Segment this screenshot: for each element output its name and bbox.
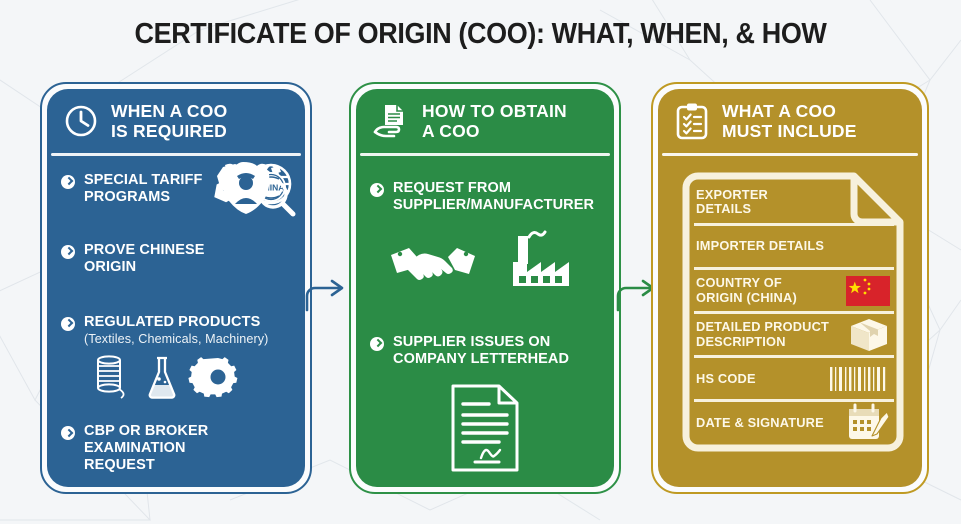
list-item-request-from-supplier[interactable]: REQUEST FROM SUPPLIER/MANUFACTURER <box>370 180 600 214</box>
list-item-label-2: EXAMINATION <box>84 440 186 456</box>
doc-row-date-signature[interactable]: DATE & SIGNATURE <box>694 402 894 443</box>
panel-how-header: HOW TO OBTAIN A COO <box>356 89 614 153</box>
panel-how-title: HOW TO OBTAIN A COO <box>422 101 567 142</box>
doc-row-importer-details[interactable]: IMPORTER DETAILS <box>694 226 894 270</box>
list-item-regulated-products[interactable]: REGULATED PRODUCTS (Textiles, Chemicals,… <box>61 314 291 347</box>
list-item-label-3: REQUEST <box>84 457 155 473</box>
china-flag-icon <box>846 276 890 306</box>
list-item-cbp-broker-exam[interactable]: CBP OR BROKER EXAMINATION REQUEST <box>61 423 291 474</box>
panel-when-header: WHEN A COO IS REQUIRED <box>47 89 305 153</box>
cbp-exam-icons <box>213 156 299 218</box>
doc-row-hs-code[interactable]: HS CODE <box>694 358 894 402</box>
list-item-label: CBP OR BROKER <box>84 423 208 439</box>
panel-when-title-line2: IS REQUIRED <box>111 121 227 141</box>
list-item-supplier-letterhead[interactable]: SUPPLIER ISSUES ON COMPANY LETTERHEAD <box>370 334 600 368</box>
doc-row-exporter-details[interactable]: EXPORTER DETAILS <box>694 182 894 226</box>
doc-row-label: HS CODE <box>696 371 756 386</box>
doc-row-label-2: ORIGIN (CHINA) <box>696 290 797 305</box>
panel-include-title-line2: MUST INCLUDE <box>722 121 857 141</box>
list-item-label-2: ORIGIN <box>84 259 136 275</box>
doc-row-country-of-origin[interactable]: COUNTRY OF ORIGIN (CHINA) <box>694 270 894 314</box>
coo-required-fields-list: EXPORTER DETAILS IMPORTER DETAILS COUN <box>694 182 894 444</box>
page-title: CERTIFICATE OF ORIGIN (COO): WHAT, WHEN,… <box>34 18 928 51</box>
panel-when-title: WHEN A COO IS REQUIRED <box>111 101 227 142</box>
thread-spool-icon <box>91 353 127 401</box>
chevron-bullet-icon <box>61 426 75 440</box>
factory-icon <box>505 230 583 292</box>
panel-how-body: REQUEST FROM SUPPLIER/MANUFACTURER <box>356 156 614 487</box>
flask-icon <box>145 353 179 401</box>
doc-row-label: EXPORTER <box>696 187 768 202</box>
list-item-label-2: PROGRAMS <box>84 189 170 205</box>
chevron-bullet-icon <box>370 337 384 351</box>
list-item-label: REGULATED PRODUCTS <box>84 314 260 330</box>
request-supplier-icons <box>370 230 600 292</box>
list-item-label: SPECIAL TARIFF <box>84 172 202 188</box>
signed-document-icon <box>447 382 523 474</box>
doc-row-label: IMPORTER DETAILS <box>696 238 824 253</box>
clipboard-checklist-icon <box>674 102 710 140</box>
list-item-label-2: COMPANY LETTERHEAD <box>393 351 569 367</box>
package-box-icon <box>848 316 890 354</box>
panel-how-title-line1: HOW TO OBTAIN <box>422 101 567 121</box>
panel-include-body: EXPORTER DETAILS IMPORTER DETAILS COUN <box>658 156 922 487</box>
gear-icon <box>197 355 239 399</box>
panel-how-to-obtain-a-coo: HOW TO OBTAIN A COO REQUEST FROM SUPPLIE… <box>349 82 621 494</box>
chevron-bullet-icon <box>61 245 75 259</box>
panel-when-title-line1: WHEN A COO <box>111 101 227 121</box>
list-item-label: PROVE CHINESE <box>84 242 205 258</box>
doc-row-label: DATE & SIGNATURE <box>696 415 824 430</box>
doc-row-label-2: DETAILS <box>696 201 751 216</box>
chevron-bullet-icon <box>61 175 75 189</box>
coo-document-card: EXPORTER DETAILS IMPORTER DETAILS COUN <box>678 168 908 456</box>
doc-row-label-2: DESCRIPTION <box>696 334 786 349</box>
doc-row-label: COUNTRY OF <box>696 275 782 290</box>
calendar-pencil-icon <box>846 403 890 443</box>
barcode-icon <box>828 365 890 393</box>
signed-document-icon-wrap <box>370 382 600 474</box>
document-in-hand-icon <box>372 102 410 140</box>
doc-row-product-description[interactable]: DETAILED PRODUCT DESCRIPTION <box>694 314 894 358</box>
list-item-label-2: SUPPLIER/MANUFACTURER <box>393 197 594 213</box>
chevron-bullet-icon <box>61 317 75 331</box>
panel-when-body: SPECIAL TARIFF PROGRAMS TARIFF <box>47 156 305 487</box>
arrow-when-to-how <box>303 272 351 318</box>
panel-include-title: WHAT A COO MUST INCLUDE <box>722 101 857 142</box>
panel-when-a-coo-is-required: WHEN A COO IS REQUIRED SPECIAL TARIFF PR… <box>40 82 312 494</box>
clock-icon <box>63 103 99 139</box>
panel-what-a-coo-must-include: WHAT A COO MUST INCLUDE EXPORTER <box>651 82 929 494</box>
regulated-products-icons <box>61 353 291 401</box>
doc-row-label: DETAILED PRODUCT <box>696 319 829 334</box>
panel-include-title-line1: WHAT A COO <box>722 101 857 121</box>
panel-include-header: WHAT A COO MUST INCLUDE <box>658 89 922 153</box>
list-item-prove-chinese-origin[interactable]: PROVE CHINESE ORIGIN <box>61 242 291 276</box>
list-item-sublabel: (Textiles, Chemicals, Machinery) <box>84 332 291 347</box>
handshake-icon <box>387 233 479 289</box>
chevron-bullet-icon <box>370 183 384 197</box>
list-item-label: REQUEST FROM <box>393 180 511 196</box>
panel-how-title-line2: A COO <box>422 121 567 141</box>
list-item-label: SUPPLIER ISSUES ON <box>393 334 550 350</box>
